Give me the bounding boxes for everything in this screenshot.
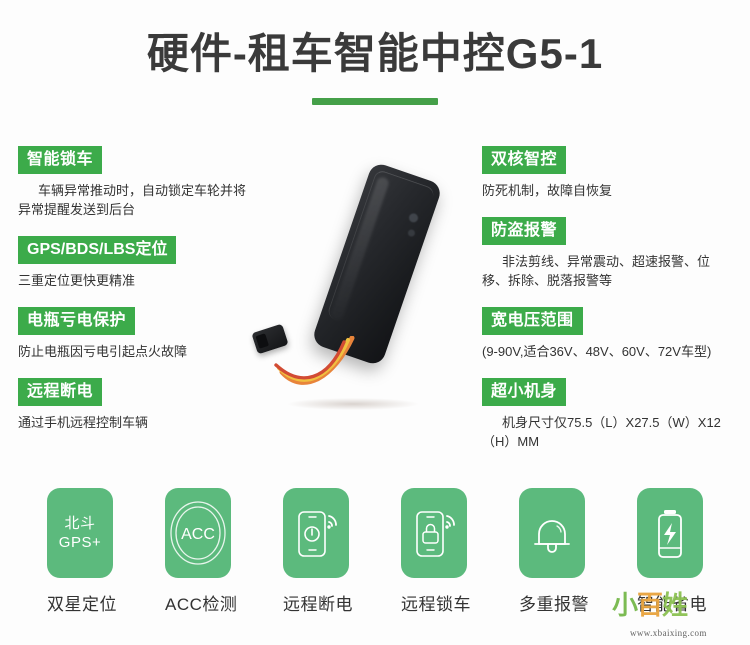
feature-anti-theft-alarm: 防盗报警 非法剪线、异常震动、超速报警、位移、拆除、脱落报警等 bbox=[482, 217, 732, 290]
bell-icon[interactable] bbox=[519, 488, 585, 578]
feature-badge: 远程断电 bbox=[18, 378, 102, 406]
phone-lock-icon[interactable] bbox=[401, 488, 467, 578]
bell-icon-svg bbox=[519, 488, 585, 578]
tile-label: 远程锁车 bbox=[401, 590, 467, 615]
tile-acc-detection[interactable]: ACC ACC检测 bbox=[165, 488, 231, 615]
phone-power-icon-svg bbox=[283, 488, 349, 578]
battery-bolt-icon-svg bbox=[637, 488, 703, 578]
feature-wide-voltage: 宽电压范围 (9-90V,适合36V、48V、60V、72V车型) bbox=[482, 307, 732, 361]
title-underline bbox=[312, 98, 438, 105]
device-highlight bbox=[330, 176, 390, 322]
feature-badge: 超小机身 bbox=[482, 378, 566, 406]
tile-remote-lock[interactable]: 远程锁车 bbox=[401, 488, 467, 615]
tile-label: ACC检测 bbox=[165, 590, 231, 615]
tile-label: 多重报警 bbox=[519, 590, 585, 615]
feature-description: (9-90V,适合36V、48V、60V、72V车型) bbox=[482, 342, 722, 361]
tile-label: 智能省电 bbox=[637, 590, 703, 615]
product-infographic: 硬件-租车智能中控G5-1 智能锁车 车辆异常推动时，自动锁定车轮并将异常提醒发… bbox=[0, 0, 750, 645]
feature-description: 三重定位更快更精准 bbox=[18, 271, 258, 290]
feature-smart-lock: 智能锁车 车辆异常推动时，自动锁定车轮并将异常提醒发送到后台 bbox=[18, 146, 268, 219]
feature-description: 防死机制，故障自恢复 bbox=[482, 181, 722, 200]
feature-gps-positioning: GPS/BDS/LBS定位 三重定位更快更精准 bbox=[18, 236, 268, 290]
feature-dual-core: 双核智控 防死机制，故障自恢复 bbox=[482, 146, 732, 200]
feature-badge: 防盗报警 bbox=[482, 217, 566, 245]
feature-description: 机身尺寸仅75.5（L）X27.5（W）X12（H）MM bbox=[482, 413, 722, 451]
tile-text-line2: GPS+ bbox=[59, 533, 101, 552]
feature-badge: GPS/BDS/LBS定位 bbox=[18, 236, 176, 264]
tile-dual-satellite[interactable]: 北斗 GPS+ 双星定位 bbox=[47, 488, 113, 615]
feature-icon-row: 北斗 GPS+ 双星定位 ACC ACC检测 bbox=[0, 488, 750, 615]
device-led-indicator bbox=[408, 212, 419, 223]
title-section: 硬件-租车智能中控G5-1 bbox=[0, 28, 750, 105]
device-photo bbox=[248, 150, 478, 425]
tile-text-line1: 北斗 bbox=[59, 514, 101, 533]
feature-badge: 双核智控 bbox=[482, 146, 566, 174]
feature-badge: 宽电压范围 bbox=[482, 307, 583, 335]
device-led-indicator-secondary bbox=[407, 229, 416, 238]
feature-remote-cutoff: 远程断电 通过手机远程控制车辆 bbox=[18, 378, 268, 432]
battery-bolt-icon[interactable] bbox=[637, 488, 703, 578]
feature-badge: 智能锁车 bbox=[18, 146, 102, 174]
phone-lock-icon-svg bbox=[401, 488, 467, 578]
page-title: 硬件-租车智能中控G5-1 bbox=[0, 28, 750, 80]
left-feature-column: 智能锁车 车辆异常推动时，自动锁定车轮并将异常提醒发送到后台 GPS/BDS/L… bbox=[18, 146, 268, 449]
acc-icon-svg: ACC bbox=[165, 488, 231, 578]
feature-badge: 电瓶亏电保护 bbox=[18, 307, 135, 335]
phone-power-icon[interactable] bbox=[283, 488, 349, 578]
feature-battery-protection: 电瓶亏电保护 防止电瓶因亏电引起点火故障 bbox=[18, 307, 268, 361]
tile-multi-alarm[interactable]: 多重报警 bbox=[519, 488, 585, 615]
acc-icon-text: ACC bbox=[181, 526, 215, 543]
feature-compact-size: 超小机身 机身尺寸仅75.5（L）X27.5（W）X12（H）MM bbox=[482, 378, 732, 451]
tile-label: 双星定位 bbox=[47, 590, 113, 615]
tile-label: 远程断电 bbox=[283, 590, 349, 615]
feature-description: 通过手机远程控制车辆 bbox=[18, 413, 258, 432]
feature-description: 非法剪线、异常震动、超速报警、位移、拆除、脱落报警等 bbox=[482, 252, 722, 290]
tile-remote-cutoff[interactable]: 远程断电 bbox=[283, 488, 349, 615]
acc-circles-icon[interactable]: ACC bbox=[165, 488, 231, 578]
feature-description: 防止电瓶因亏电引起点火故障 bbox=[18, 342, 258, 361]
beidou-gps-icon[interactable]: 北斗 GPS+ bbox=[47, 488, 113, 578]
device-shadow bbox=[288, 398, 418, 410]
feature-description: 车辆异常推动时，自动锁定车轮并将异常提醒发送到后台 bbox=[18, 181, 258, 219]
watermark-url: www.xbaixing.com bbox=[630, 628, 707, 638]
tile-power-saving[interactable]: 智能省电 bbox=[637, 488, 703, 615]
right-feature-column: 双核智控 防死机制，故障自恢复 防盗报警 非法剪线、异常震动、超速报警、位移、拆… bbox=[482, 146, 732, 468]
